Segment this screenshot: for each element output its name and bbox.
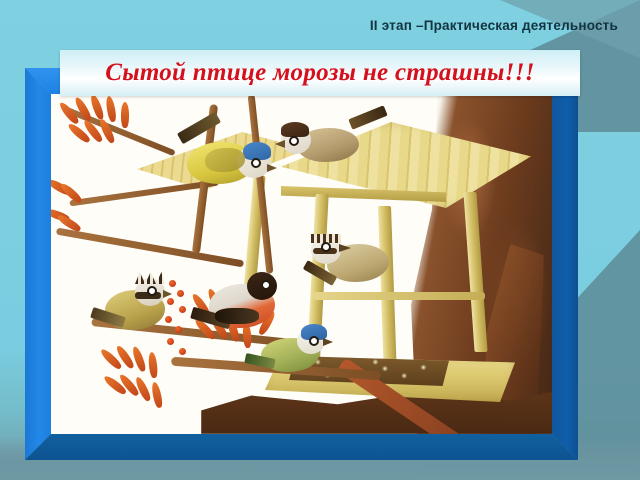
photo-area bbox=[51, 94, 552, 434]
title-banner: Сытой птице морозы не страшны!!! bbox=[60, 50, 580, 96]
bird-sparrow-roof bbox=[277, 110, 387, 170]
bird-crested-tit bbox=[91, 272, 183, 338]
picture-frame bbox=[25, 68, 578, 460]
frame-bar-right bbox=[552, 68, 578, 460]
frame-bar-left bbox=[25, 68, 51, 460]
bird-great-tit bbox=[181, 120, 291, 198]
frame-bar-bottom bbox=[25, 434, 578, 460]
header-title: II этап –Практическая деятельность bbox=[0, 18, 618, 33]
watercolor-illustration bbox=[51, 94, 552, 434]
slide: II этап –Практическая деятельность bbox=[0, 0, 640, 480]
bird-blue-tit-tray bbox=[247, 322, 347, 382]
bird-tit-under-roof bbox=[309, 226, 413, 296]
banner-text: Сытой птице морозы не страшны!!! bbox=[105, 59, 535, 87]
